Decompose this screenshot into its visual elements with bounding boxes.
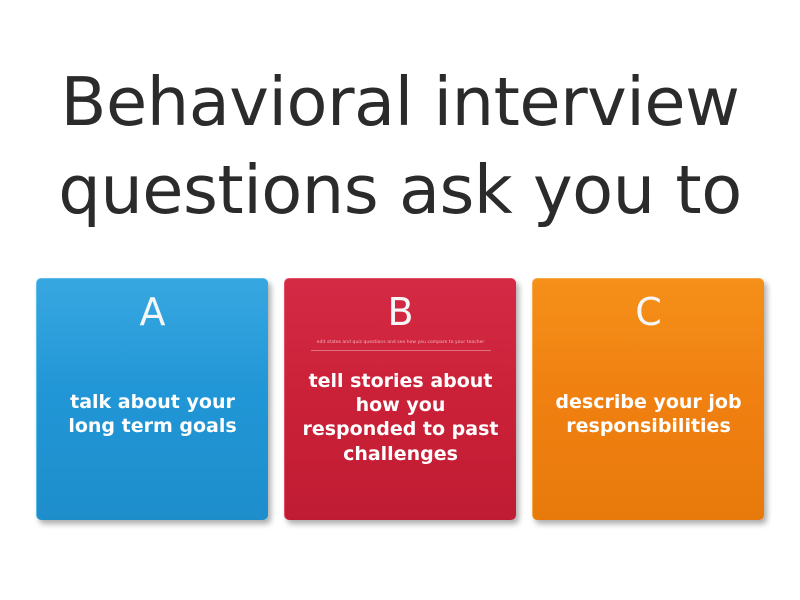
answer-option-b[interactable]: B edit states and quiz questions and see… [284,278,516,520]
answer-text-a: talk about your long term goals [49,390,256,439]
answer-body-b: tell stories about how you responded to … [285,333,516,520]
answer-options: A talk about your long term goals B edit… [36,278,764,520]
answer-option-a[interactable]: A talk about your long term goals [36,278,268,520]
answer-text-b: tell stories about how you responded to … [297,369,504,466]
question-text: Behavioral interview questions ask you t… [28,58,772,235]
answer-letter-b: B [387,293,413,333]
quiz-slide: Behavioral interview questions ask you t… [0,0,800,600]
answer-body-a: talk about your long term goals [37,333,268,520]
answer-option-c[interactable]: C describe your job responsibilities [532,278,764,520]
answer-letter-a: A [140,293,166,333]
answer-text-c: describe your job responsibilities [545,390,752,439]
answer-note-b: edit states and quiz questions and see h… [285,341,516,346]
answer-note-divider-b [311,350,491,351]
answer-body-c: describe your job responsibilities [533,333,764,520]
answer-letter-c: C [635,293,662,333]
